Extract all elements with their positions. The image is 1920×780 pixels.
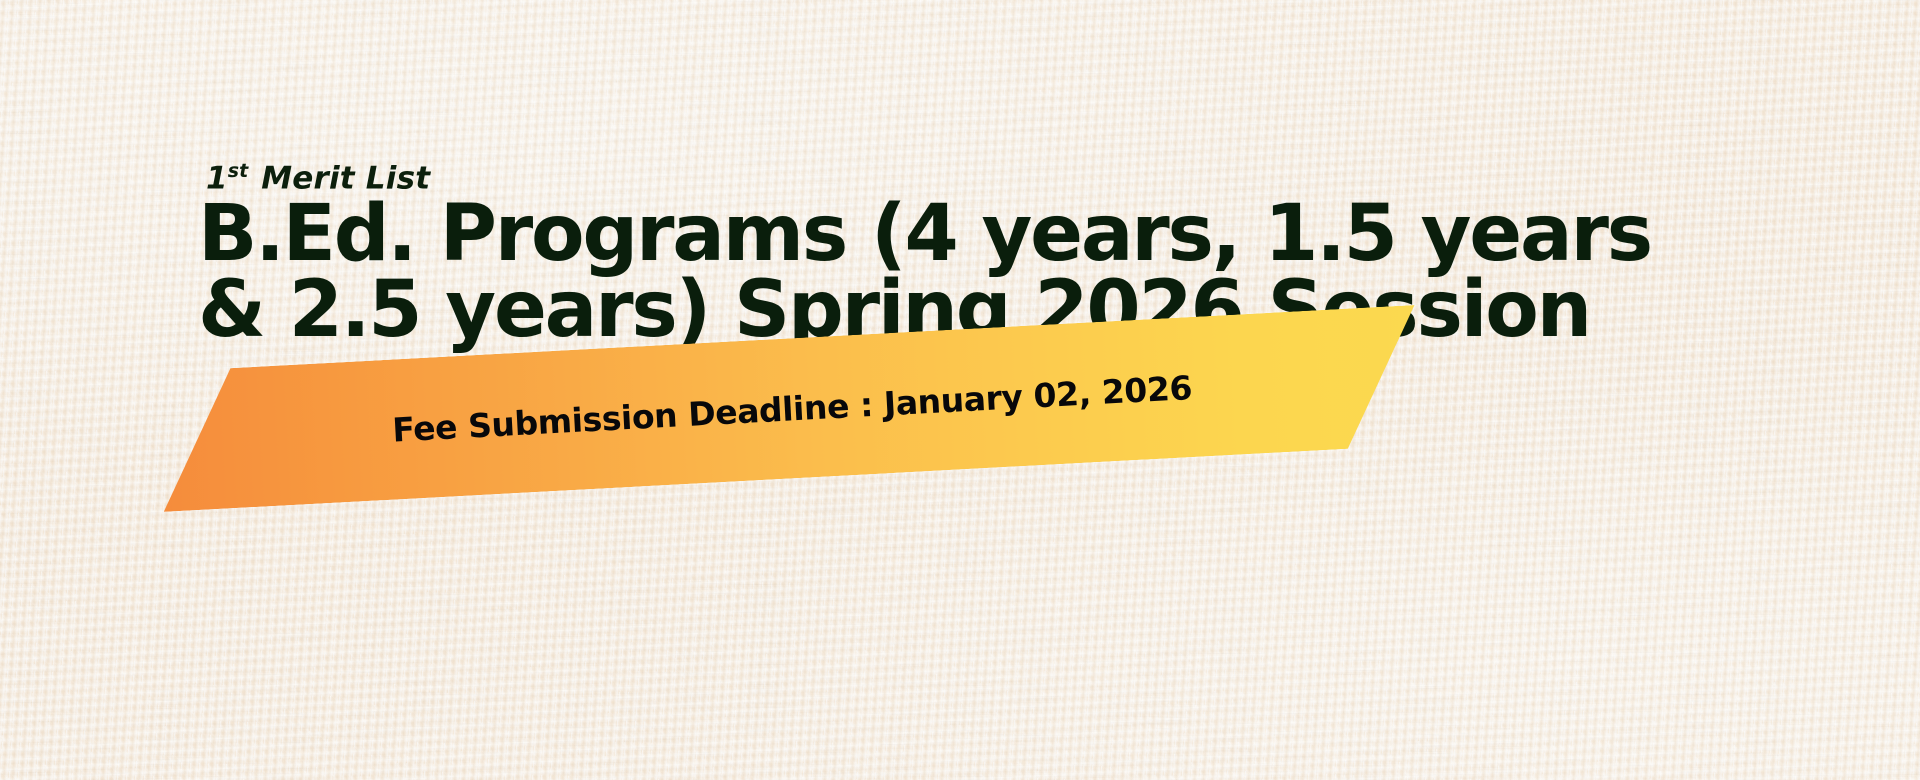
banner-content-layer: 1stMerit List B.Ed. Programs (4 years, 1… <box>0 0 1920 780</box>
merit-list-ordinal-suffix: st <box>228 160 248 182</box>
merit-list-banner: 1stMerit List B.Ed. Programs (4 years, 1… <box>0 0 1920 780</box>
headline-line-1: B.Ed. Programs (4 years, 1.5 years <box>198 196 1618 272</box>
